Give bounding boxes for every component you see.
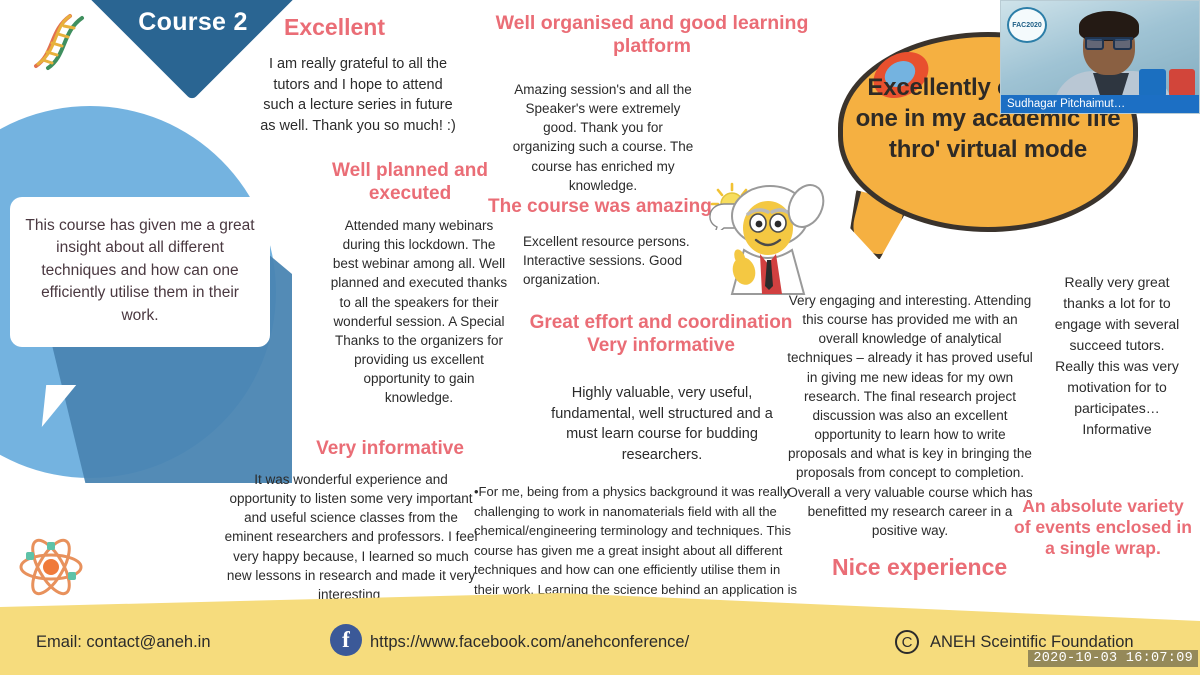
testimonial-body-well-organised: Amazing session's and all the Speaker's … — [512, 80, 694, 195]
aneh-logo-icon — [1139, 69, 1166, 97]
sponsor-logos — [1139, 69, 1195, 97]
testimonial-body-really-very-great: Really very great thanks a lot for to en… — [1053, 272, 1181, 440]
highlight-quote-bubble: This course has given me a great insight… — [10, 197, 270, 347]
testimonial-heading-well-planned: Well planned and executed — [320, 160, 500, 206]
testimonial-body-great-effort: Highly valuable, very useful, fundamenta… — [548, 383, 776, 465]
recording-timestamp: 2020-10-03 16:07:09 — [1028, 650, 1198, 667]
testimonial-heading-excellent: Excellent — [284, 14, 474, 42]
testimonial-heading-absolute-variety: An absolute variety of events enclosed i… — [1012, 496, 1194, 559]
testimonial-body-very-engaging: Very engaging and interesting. Attending… — [786, 291, 1034, 540]
testimonial-body-course-amazing: Excellent resource persons. Interactive … — [523, 232, 703, 289]
atom-icon — [12, 530, 90, 604]
slide-canvas: Course 2 This course has given me a grea… — [0, 0, 1200, 675]
footer-email: Email: contact@aneh.in — [36, 633, 211, 652]
testimonial-heading-nice-experience: Nice experience — [832, 554, 1052, 582]
footer-facebook-link[interactable]: https://www.facebook.com/anehconference/ — [370, 633, 689, 652]
white-bubble-tail — [42, 385, 76, 427]
video-participant-tile[interactable]: FAC2020 Sudhagar Pitchaimut… — [1000, 0, 1200, 114]
participant-glasses-left-lens — [1085, 37, 1104, 50]
testimonial-body-excellent: I am really grateful to all the tutors a… — [258, 54, 458, 136]
dna-helix-icon — [24, 8, 98, 72]
testimonial-body-well-planned: Attended many webinars during this lockd… — [330, 216, 508, 408]
testimonial-body-very-informative: It was wonderful experience and opportun… — [222, 470, 480, 604]
partner-logo-icon — [1169, 69, 1196, 97]
course-badge-label: Course 2 — [110, 8, 276, 37]
participant-name-label: Sudhagar Pitchaimut… — [1001, 95, 1200, 113]
testimonial-heading-very-informative: Very informative — [300, 438, 480, 461]
testimonial-heading-great-effort: Great effort and coordination Very infor… — [516, 312, 806, 358]
copyright-icon: C — [895, 630, 919, 654]
facebook-icon[interactable]: f — [330, 624, 362, 656]
participant-glasses-right-lens — [1113, 37, 1132, 50]
testimonial-heading-well-organised: Well organised and good learning platfor… — [484, 12, 820, 59]
conference-badge-icon: FAC2020 — [1007, 7, 1047, 43]
scientist-cartoon-icon — [700, 176, 832, 304]
